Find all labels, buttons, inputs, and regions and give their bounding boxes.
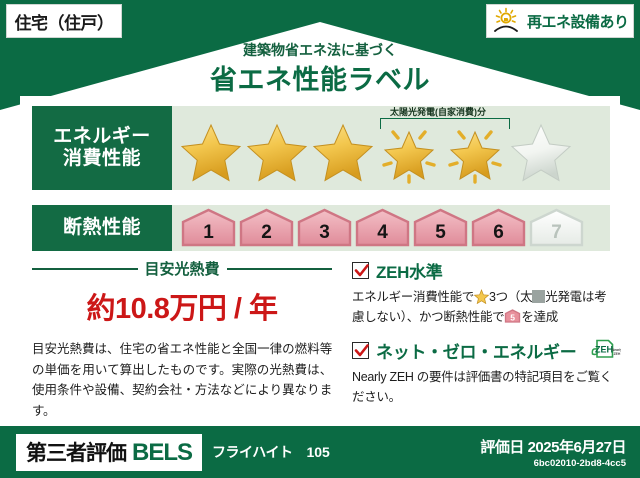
insulation-level-number: 6 bbox=[470, 222, 527, 244]
redacted-character bbox=[532, 290, 545, 303]
bels-en-label: BELS bbox=[132, 439, 192, 467]
insulation-level-badge: 4 bbox=[354, 208, 411, 248]
sun-icon bbox=[493, 7, 523, 35]
star-icon bbox=[178, 120, 244, 184]
zeh-standard-title: ZEH水準 bbox=[376, 258, 443, 283]
estimated-cost-description: 目安光熱費は、住宅の省エネ性能と全国一律の燃料等の単価を用いて算出したものです。… bbox=[32, 339, 332, 422]
evaluation-id: 6bc02010-2bd8-4cc5 bbox=[480, 458, 626, 469]
footer-bar: 第三者評価 BELS フライハイト 105 評価日 2025年6月27日 6bc… bbox=[0, 426, 640, 478]
bels-jp-label: 第三者評価 bbox=[26, 437, 126, 467]
divider-right bbox=[227, 268, 333, 270]
star-icon bbox=[244, 120, 310, 184]
evaluation-date-value: 2025年6月27日 bbox=[528, 439, 626, 456]
check-icon bbox=[352, 262, 369, 279]
insulation-performance-content: 1 2 3 4 bbox=[172, 205, 610, 251]
star-icon-empty bbox=[508, 120, 574, 184]
net-zero-energy-description: Nearly ZEH の要件は評価書の特記項目をご覧ください。 bbox=[352, 367, 612, 407]
zeh-criteria-block: ZEH水準 エネルギー消費性能で3つ（太光発電は考慮しない）、かつ断熱性能で5を… bbox=[352, 258, 612, 417]
zeh-standard-title-row: ZEH水準 bbox=[352, 258, 612, 283]
energy-label-line1: エネルギー bbox=[53, 126, 151, 148]
insulation-level-badge: 5 bbox=[412, 208, 469, 248]
energy-performance-row: エネルギー 消費性能 太陽光発電(自家消費)分 bbox=[32, 106, 610, 190]
star-icon-solar bbox=[442, 120, 508, 184]
net-zero-energy-title-row: ネット・ゼロ・エネルギー ZEH Nearly ZEH bbox=[352, 337, 612, 363]
star-icon bbox=[310, 120, 376, 184]
star-icon-solar bbox=[376, 120, 442, 184]
insulation-level-badge: 6 bbox=[470, 208, 527, 248]
insulation-level-badge-inactive: 7 bbox=[528, 208, 585, 248]
insulation-level-scale: 1 2 3 4 bbox=[180, 208, 585, 248]
insulation-level-number: 2 bbox=[238, 222, 295, 244]
inline-star-icon bbox=[474, 289, 489, 304]
page-title: 省エネ性能ラベル bbox=[0, 58, 640, 97]
estimated-cost-heading: 目安光熱費 bbox=[32, 258, 332, 279]
evaluation-date: 評価日 2025年6月27日 bbox=[480, 436, 626, 457]
renewable-equipment-chip: 再エネ設備あり bbox=[486, 4, 634, 38]
energy-performance-content: 太陽光発電(自家消費)分 bbox=[172, 106, 610, 190]
net-zero-energy-title: ネット・ゼロ・エネルギー bbox=[376, 338, 576, 363]
insulation-performance-row: 断熱性能 1 2 bbox=[32, 205, 610, 251]
insulation-level-badge: 1 bbox=[180, 208, 237, 248]
insulation-performance-label: 断熱性能 bbox=[32, 205, 172, 251]
estimated-cost-value: 約10.8万円 / 年 bbox=[32, 285, 332, 327]
estimated-utility-cost-block: 目安光熱費 約10.8万円 / 年 目安光熱費は、住宅の省エネ性能と全国一律の燃… bbox=[32, 258, 332, 422]
insulation-label-text: 断熱性能 bbox=[63, 217, 141, 239]
label-subtitle: 建築物省エネ法に基づく bbox=[0, 40, 640, 60]
check-icon bbox=[352, 342, 369, 359]
zeh-logo-icon: ZEH Nearly ZEH bbox=[583, 337, 621, 363]
bels-energy-label: 住宅（住戸） 再エネ設備あり 建築物省エネ法に基づく 省エ bbox=[0, 0, 640, 478]
inline-house-level-icon: 5 bbox=[504, 309, 521, 323]
zeh-desc-part4: を達成 bbox=[521, 310, 558, 324]
insulation-level-number: 5 bbox=[412, 222, 469, 244]
solar-generation-note: 太陽光発電(自家消費)分 bbox=[390, 105, 486, 118]
zeh-standard-item: ZEH水準 エネルギー消費性能で3つ（太光発電は考慮しない）、かつ断熱性能で5を… bbox=[352, 258, 612, 327]
net-zero-energy-item: ネット・ゼロ・エネルギー ZEH Nearly ZEH Nearly ZEH の… bbox=[352, 337, 612, 407]
insulation-level-number: 3 bbox=[296, 222, 353, 244]
bels-logo: 第三者評価 BELS bbox=[16, 434, 202, 471]
zeh-desc-part2: 3つ（太 bbox=[489, 290, 532, 304]
building-unit-number: 105 bbox=[306, 444, 329, 460]
zeh-standard-description: エネルギー消費性能で3つ（太光発電は考慮しない）、かつ断熱性能で5を達成 bbox=[352, 287, 612, 327]
divider-left bbox=[32, 268, 138, 270]
zeh-desc-part1: エネルギー消費性能で bbox=[352, 290, 474, 304]
insulation-level-number: 7 bbox=[528, 222, 585, 244]
house-type-chip: 住宅（住戸） bbox=[6, 4, 122, 38]
insulation-level-number: 1 bbox=[180, 222, 237, 244]
evaluation-date-label: 評価日 bbox=[480, 439, 524, 456]
house-type-label: 住宅（住戸） bbox=[15, 9, 114, 34]
evaluation-info: 評価日 2025年6月27日 6bc02010-2bd8-4cc5 bbox=[480, 436, 626, 469]
energy-star-rating bbox=[178, 120, 574, 184]
insulation-level-badge: 3 bbox=[296, 208, 353, 248]
insulation-level-badge: 2 bbox=[238, 208, 295, 248]
svg-text:ZEH: ZEH bbox=[595, 345, 613, 355]
svg-text:ZEH: ZEH bbox=[614, 352, 621, 356]
svg-text:5: 5 bbox=[511, 312, 516, 322]
estimated-cost-label: 目安光熱費 bbox=[145, 258, 220, 279]
energy-performance-label: エネルギー 消費性能 bbox=[32, 106, 172, 190]
building-name: フライハイト bbox=[212, 442, 292, 462]
energy-label-line2: 消費性能 bbox=[63, 148, 141, 170]
insulation-level-number: 4 bbox=[354, 222, 411, 244]
renewable-equipment-label: 再エネ設備あり bbox=[527, 11, 629, 32]
